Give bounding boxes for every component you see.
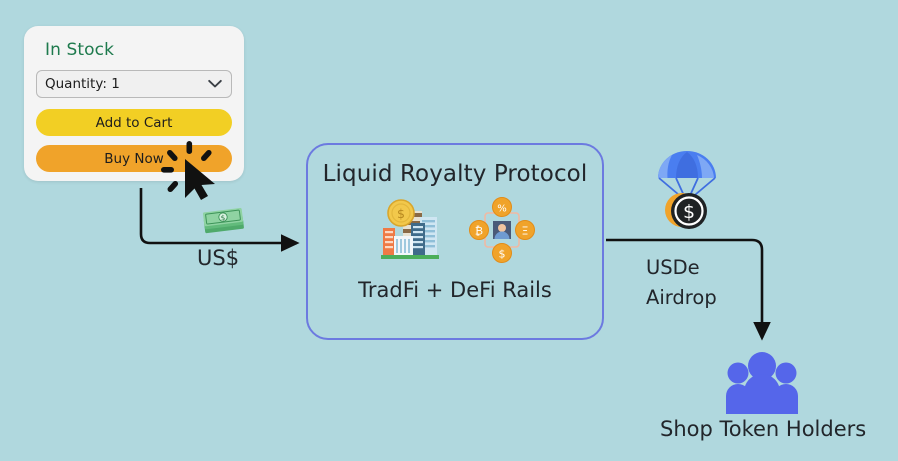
add-to-cart-button[interactable]: Add to Cart <box>36 109 232 136</box>
airdrop-label-line2: Airdrop <box>646 283 717 313</box>
svg-text:$: $ <box>397 206 405 221</box>
airdrop-label-line1: USDe <box>646 253 717 283</box>
diagram-canvas: In Stock Quantity: 1 Add to Cart Buy Now <box>0 0 898 461</box>
liquid-royalty-protocol-box: Liquid Royalty Protocol <box>306 143 604 340</box>
banknote-icon: $ <box>202 205 246 237</box>
svg-text:Ξ: Ξ <box>522 225 529 238</box>
protocol-subtitle: TradFi + DeFi Rails <box>358 278 552 302</box>
svg-text:$: $ <box>499 248 506 261</box>
svg-text:₿: ₿ <box>475 225 483 238</box>
airdrop-label: USDe Airdrop <box>646 253 717 313</box>
protocol-title: Liquid Royalty Protocol <box>323 161 588 187</box>
svg-text:%: % <box>497 204 507 215</box>
quantity-select[interactable]: Quantity: 1 <box>36 70 232 98</box>
payment-label: US$ <box>197 246 239 270</box>
shop-token-holders-label: Shop Token Holders <box>660 417 866 441</box>
defi-network-icon: % ₿ Ξ $ <box>469 197 535 267</box>
svg-text:$: $ <box>683 201 695 223</box>
protocol-icon-row: $ % ₿ <box>375 197 535 267</box>
parachute-coin-icon: $ <box>652 144 722 236</box>
people-group-icon <box>722 352 802 414</box>
stock-status-label: In Stock <box>45 40 232 60</box>
tradfi-bank-coin-icon: $ <box>375 197 447 267</box>
chevron-down-icon <box>208 80 222 89</box>
click-cursor-icon <box>158 140 222 202</box>
quantity-select-label: Quantity: 1 <box>45 76 120 92</box>
